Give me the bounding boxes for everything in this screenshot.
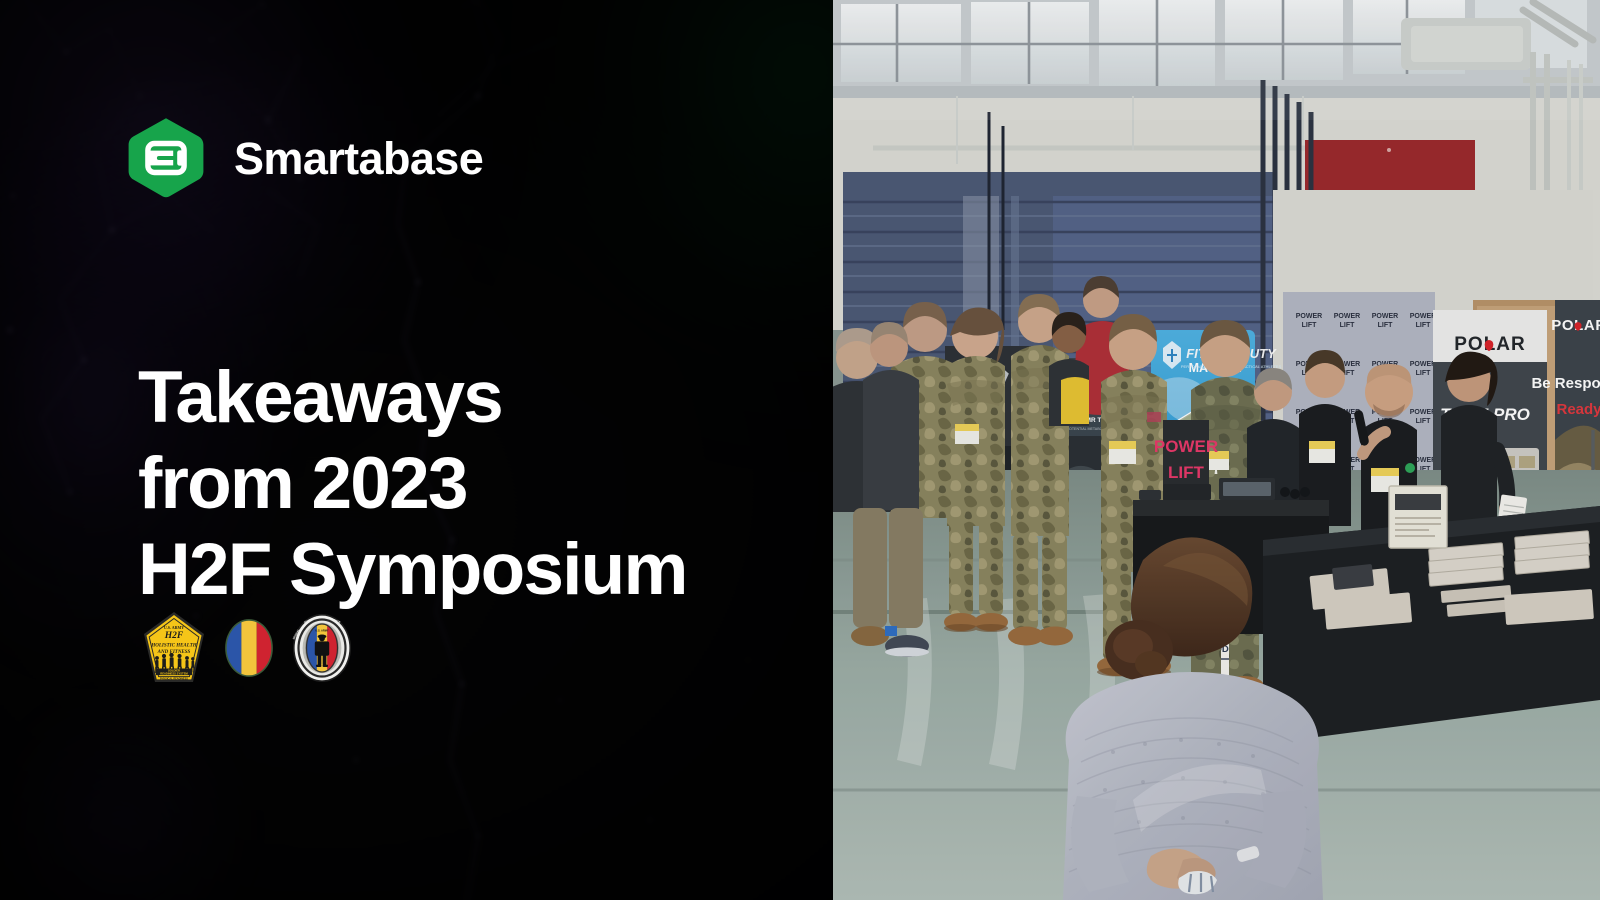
slide-canvas: Smartabase Takeaways from 2023 H2F Sympo… — [0, 0, 1600, 900]
svg-text:READINESS SYSTEM: READINESS SYSTEM — [160, 671, 188, 675]
page-title: Takeaways from 2023 H2F Symposium — [138, 355, 798, 613]
smartabase-hexagon-logo-icon — [124, 116, 208, 200]
headline-line-2: from 2023 — [138, 441, 798, 527]
svg-text:HOLISTIC HEALTH: HOLISTIC HEALTH — [150, 644, 197, 649]
brand-name: Smartabase — [234, 136, 483, 181]
svg-text:U.S. ARMY: U.S. ARMY — [315, 629, 329, 633]
h2f-symposium-expo-hall-photo: ADx VO2 MASTER VO2 MAX | RMR TESTING PER… — [833, 0, 1600, 900]
romania-flag-badge — [221, 615, 277, 686]
headline-line-1: Takeaways — [138, 355, 798, 441]
headline-line-3: H2F Symposium — [138, 527, 798, 613]
svg-text:H2F: H2F — [164, 631, 184, 641]
army-medical-center-seal-badge: U.S. ARMY MEDICAL CENTER OF EXCELLENCE A… — [291, 612, 353, 689]
brand-lockup: Smartabase — [124, 116, 483, 200]
partner-badge-row: U.S. ARMY H2F HOLISTIC HEALTH AND FITNES… — [141, 610, 353, 691]
svg-text:PHYSICAL READINESS: PHYSICAL READINESS — [160, 677, 188, 680]
svg-text:U.S. ARMY: U.S. ARMY — [164, 625, 184, 630]
left-title-panel: Smartabase Takeaways from 2023 H2F Sympo… — [0, 0, 833, 900]
svg-text:AND FITNESS: AND FITNESS — [157, 650, 191, 655]
us-army-h2f-badge: U.S. ARMY H2F HOLISTIC HEALTH AND FITNES… — [141, 610, 207, 691]
